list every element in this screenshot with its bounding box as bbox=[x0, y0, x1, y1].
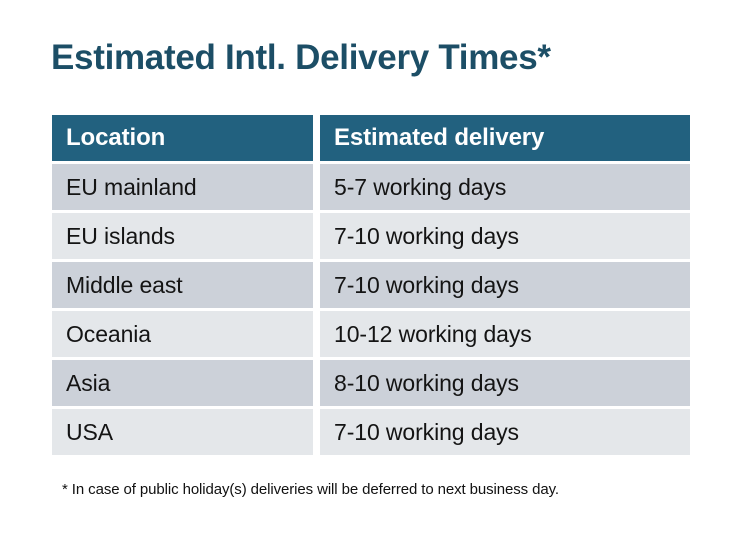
cell-location: Asia bbox=[52, 360, 313, 406]
cell-estimated-delivery: 7-10 working days bbox=[320, 262, 690, 308]
delivery-times-page: Estimated Intl. Delivery Times* Location… bbox=[0, 0, 745, 536]
cell-estimated-delivery: 7-10 working days bbox=[320, 213, 690, 259]
delivery-times-table: Location Estimated delivery EU mainland … bbox=[52, 115, 690, 455]
table-row: EU mainland 5-7 working days bbox=[52, 164, 690, 210]
cell-location: EU mainland bbox=[52, 164, 313, 210]
table-row: USA 7-10 working days bbox=[52, 409, 690, 455]
cell-location: Oceania bbox=[52, 311, 313, 357]
cell-location: USA bbox=[52, 409, 313, 455]
cell-location: Middle east bbox=[52, 262, 313, 308]
cell-location: EU islands bbox=[52, 213, 313, 259]
table-header-row: Location Estimated delivery bbox=[52, 115, 690, 161]
cell-estimated-delivery: 7-10 working days bbox=[320, 409, 690, 455]
page-title: Estimated Intl. Delivery Times* bbox=[51, 36, 551, 80]
footnote-text: * In case of public holiday(s) deliverie… bbox=[62, 480, 559, 500]
cell-estimated-delivery: 10-12 working days bbox=[320, 311, 690, 357]
cell-estimated-delivery: 8-10 working days bbox=[320, 360, 690, 406]
column-header-estimated-delivery: Estimated delivery bbox=[320, 115, 690, 161]
table-row: EU islands 7-10 working days bbox=[52, 213, 690, 259]
cell-estimated-delivery: 5-7 working days bbox=[320, 164, 690, 210]
table-row: Asia 8-10 working days bbox=[52, 360, 690, 406]
table-row: Middle east 7-10 working days bbox=[52, 262, 690, 308]
table-row: Oceania 10-12 working days bbox=[52, 311, 690, 357]
column-header-location: Location bbox=[52, 115, 313, 161]
